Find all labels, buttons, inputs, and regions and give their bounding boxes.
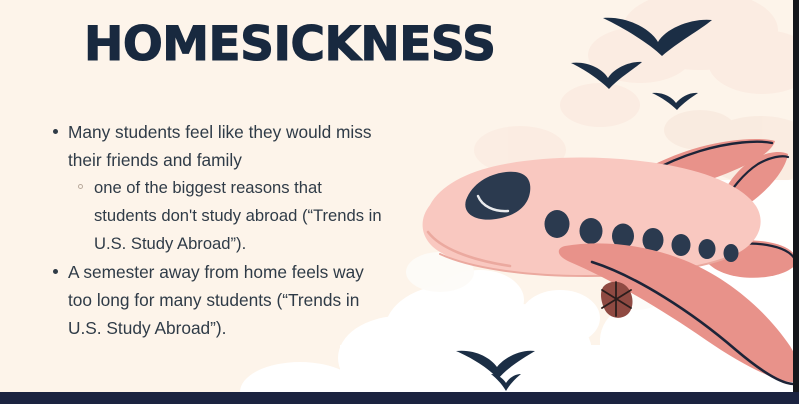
propeller-spokes (602, 282, 631, 316)
list-item: Many students feel like they would miss … (68, 118, 384, 258)
plane-fuselage (423, 158, 761, 277)
cloud-mid-right (664, 110, 799, 184)
cloud-bottom-right (600, 268, 799, 400)
plane-upper-wing (600, 139, 775, 205)
plane-tail-fin-stroke (722, 156, 788, 206)
plane-belly-line (440, 254, 736, 276)
plane-engine-nacelle (601, 282, 633, 318)
plane-passenger-windows (545, 210, 739, 262)
slide-canvas: HOMESICKNESS Many students feel like the… (0, 0, 799, 404)
plane-cockpit-window (465, 172, 530, 220)
cloud-right-edge (666, 170, 734, 290)
bird-large-top-right (603, 18, 712, 56)
plane-tail-stabilizer-stroke (706, 244, 796, 262)
bullet-list-level-1: Many students feel like they would miss … (44, 118, 384, 342)
page-title: HOMESICKNESS (84, 20, 495, 69)
bullet-text: A semester away from home feels way too … (68, 262, 364, 338)
list-item: A semester away from home feels way too … (68, 258, 384, 342)
sub-bullet-text: one of the biggest reasons that students… (94, 178, 382, 253)
bullet-list-level-2: one of the biggest reasons that students… (68, 174, 384, 258)
footer-bar (0, 392, 799, 404)
cloud-under-plane (406, 252, 666, 310)
plane-nose-highlight (428, 232, 510, 266)
plane-cockpit-highlight (478, 196, 508, 211)
right-edge-rule (793, 0, 799, 392)
plane-upper-wing-stroke (606, 142, 772, 202)
plane-tail-fin (716, 152, 788, 212)
bullet-text: Many students feel like they would miss … (68, 122, 372, 170)
cloud-top-right (474, 0, 799, 174)
plane-lower-wing-stroke (592, 262, 794, 384)
bird-medium-left (571, 62, 642, 89)
bird-bottom-footer (491, 374, 521, 391)
bullet-content: Many students feel like they would miss … (44, 118, 384, 342)
plane-tail-stabilizer (700, 240, 798, 277)
bird-small-center (652, 93, 698, 110)
plane-lower-wing (559, 243, 799, 382)
bird-bottom-left (456, 351, 535, 379)
list-item: one of the biggest reasons that students… (94, 174, 384, 258)
cloud-right-block (700, 180, 799, 392)
